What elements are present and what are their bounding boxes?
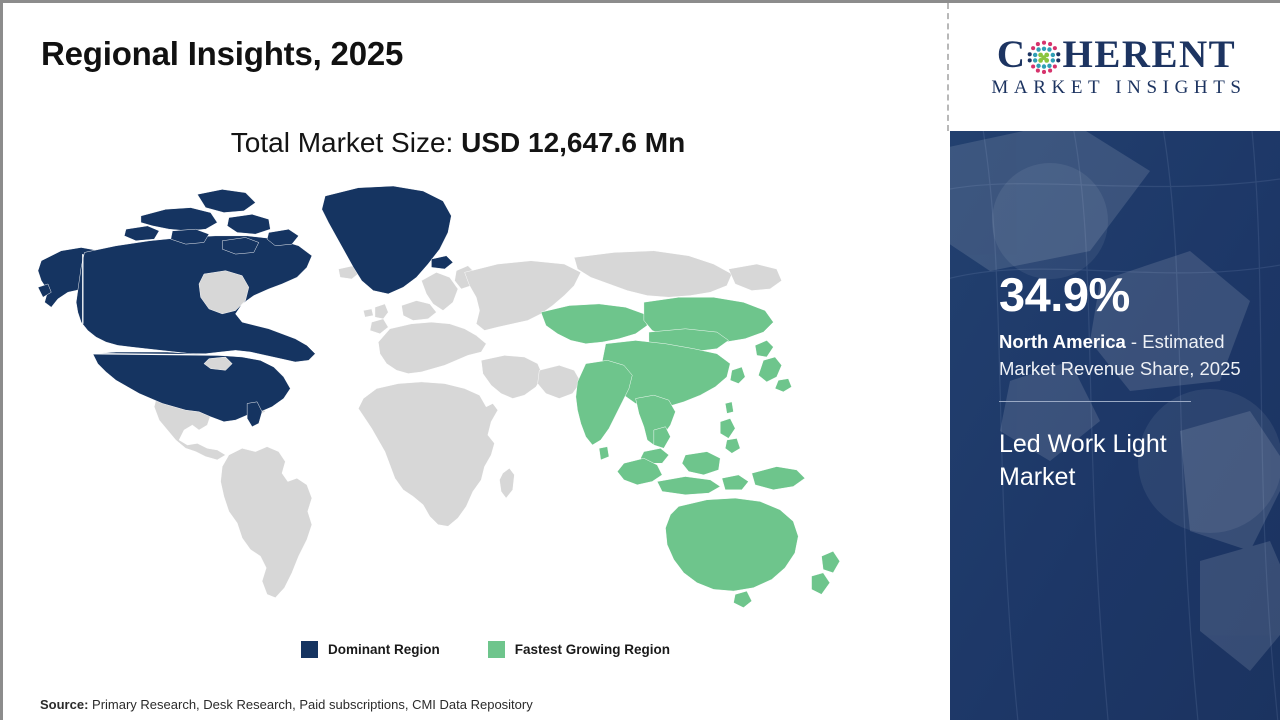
- world-map-svg: [33, 181, 863, 621]
- page-title: Regional Insights, 2025: [41, 35, 403, 73]
- stat-block: 34.9% North America - Estimated Market R…: [999, 271, 1267, 495]
- total-market-size: Total Market Size: USD 12,647.6 Mn: [3, 127, 913, 159]
- total-market-size-label: Total Market Size:: [231, 127, 461, 158]
- map-fastest-growing-region-asia-pacific: [541, 297, 840, 607]
- source-text: Primary Research, Desk Research, Paid su…: [88, 697, 532, 712]
- legend-item-fastest-growing: Fastest Growing Region: [488, 641, 670, 658]
- vertical-dashed-divider: [947, 3, 949, 131]
- regional-stat-panel: 34.9% North America - Estimated Market R…: [950, 131, 1280, 720]
- source-note: Source: Primary Research, Desk Research,…: [40, 697, 533, 712]
- market-name: Led Work Light Market: [999, 428, 1249, 496]
- stat-region-name: North America: [999, 331, 1126, 352]
- source-label: Source:: [40, 697, 88, 712]
- logo-tagline: MARKET INSIGHTS: [986, 77, 1246, 99]
- globe-dots-icon: [1027, 40, 1061, 74]
- legend-item-dominant: Dominant Region: [301, 641, 440, 658]
- map-legend: Dominant Region Fastest Growing Region: [301, 641, 670, 658]
- logo-letter-c: C: [997, 35, 1027, 74]
- world-map: [33, 181, 863, 621]
- left-content-pane: Regional Insights, 2025 Total Market Siz…: [3, 3, 950, 720]
- legend-label-dominant: Dominant Region: [328, 642, 440, 657]
- company-logo: C: [950, 3, 1280, 131]
- right-sidebar: C: [950, 3, 1280, 720]
- legend-swatch-fastest-growing-icon: [488, 641, 505, 658]
- logo-word-herent: HERENT: [1062, 35, 1236, 74]
- logo-wordmark: C: [997, 35, 1236, 74]
- legend-swatch-dominant-icon: [301, 641, 318, 658]
- stat-percentage: 34.9%: [999, 271, 1267, 318]
- stat-description: North America - Estimated Market Revenue…: [999, 329, 1261, 383]
- legend-label-fastest-growing: Fastest Growing Region: [515, 642, 670, 657]
- total-market-size-value: USD 12,647.6 Mn: [461, 127, 685, 158]
- stat-divider-rule: [999, 401, 1191, 402]
- regional-insights-infographic: Regional Insights, 2025 Total Market Siz…: [0, 0, 1280, 720]
